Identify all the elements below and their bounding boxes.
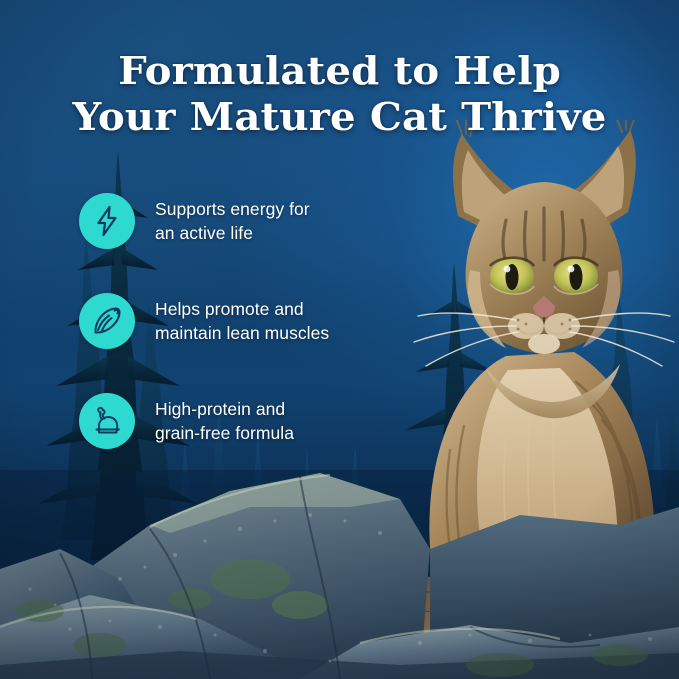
feature-item-energy: Supports energy for an active life [79,192,369,250]
feature-label-energy: Supports energy for an active life [155,197,310,245]
muscle-fiber-icon [79,293,135,349]
feature-list: Supports energy for an active life Helps… [79,192,369,450]
feature-label-protein: High-protein and grain-free formula [155,397,294,445]
feature-item-muscle: Helps promote and maintain lean muscles [79,292,369,350]
rock-foreground [0,429,679,679]
rocks-svg [0,429,679,679]
lightning-bolt-icon [79,193,135,249]
roast-turkey-icon [79,393,135,449]
feature-label-muscle: Helps promote and maintain lean muscles [155,297,329,345]
advertisement-banner: Formulated to Help Your Mature Cat Thriv… [0,0,679,679]
feature-item-protein: High-protein and grain-free formula [79,392,369,450]
